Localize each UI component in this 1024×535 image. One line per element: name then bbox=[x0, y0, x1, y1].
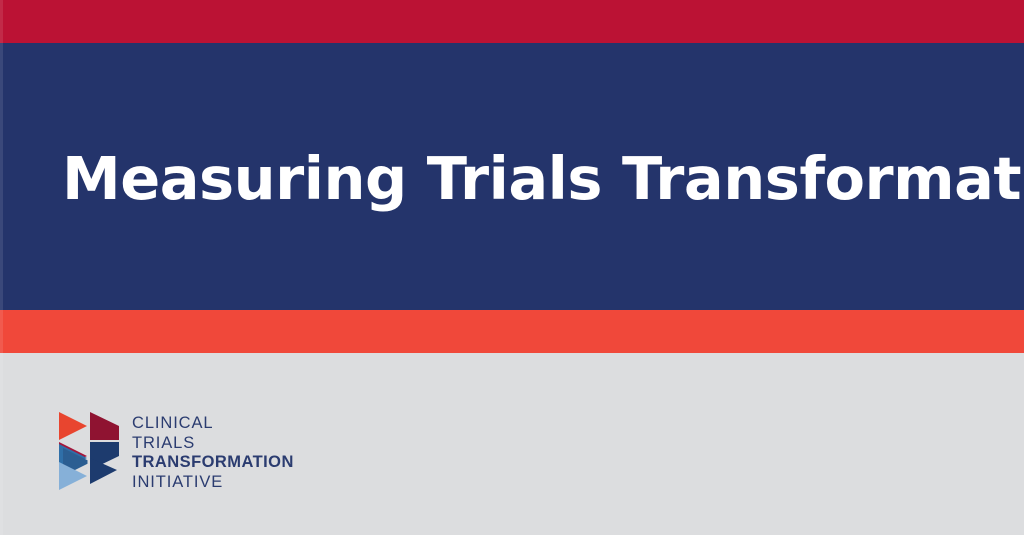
page-title: Measuring Trials Transformation bbox=[62, 143, 962, 215]
ctti-logo-mark bbox=[57, 404, 123, 496]
logo-line-initiative: INITIATIVE bbox=[132, 473, 362, 493]
logo-line-transformation: TRANSFORMATION bbox=[132, 453, 362, 473]
divider-bar bbox=[0, 310, 1024, 353]
logo-triangle-deep-red bbox=[90, 412, 119, 440]
ctti-logo: CLINICAL TRIALS TRANSFORMATION INITIATIV… bbox=[57, 404, 307, 496]
top-accent-bar bbox=[0, 0, 1024, 43]
logo-line-clinical: CLINICAL bbox=[132, 414, 362, 434]
ctti-logo-wordmark: CLINICAL TRIALS TRANSFORMATION INITIATIV… bbox=[132, 414, 362, 492]
logo-triangle-orange bbox=[59, 412, 87, 440]
logo-separator-vertical bbox=[88, 408, 91, 492]
ctti-logo-mark-svg bbox=[57, 404, 123, 496]
logo-line-trials: TRIALS bbox=[132, 434, 362, 454]
slide-canvas: Measuring Trials Transformation bbox=[0, 0, 1024, 535]
